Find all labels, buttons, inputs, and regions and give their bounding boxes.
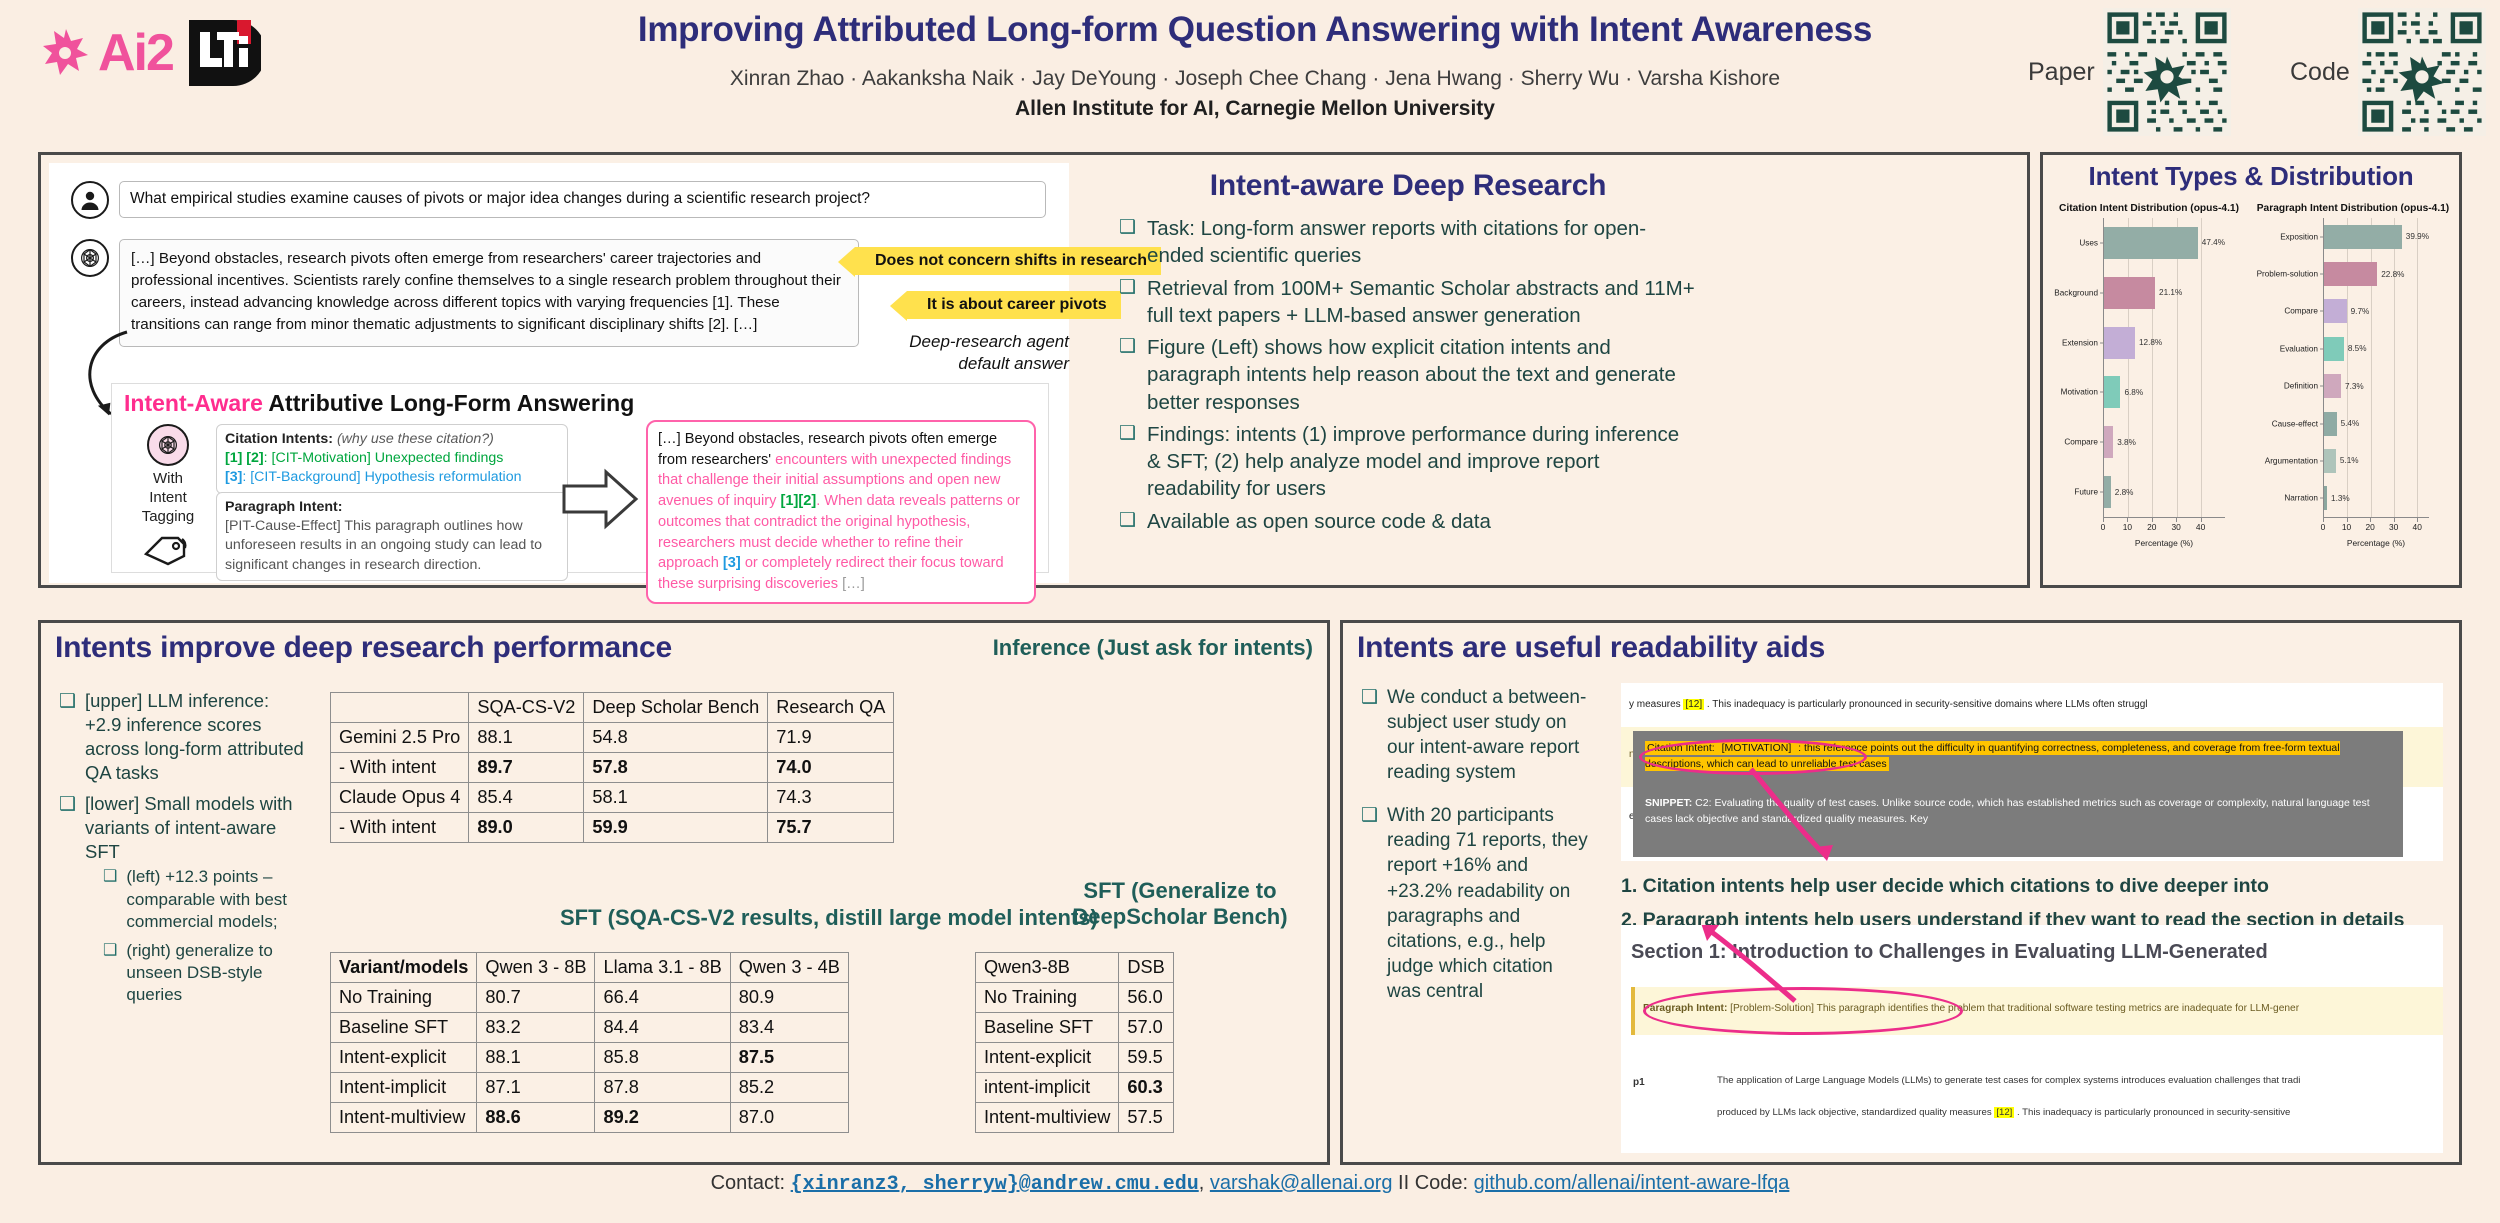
page-title: Improving Attributed Long-form Question … (560, 10, 1950, 49)
chart-ytick (2100, 242, 2104, 243)
default-answer-row: […] Beyond obstacles, research pivots of… (71, 239, 861, 347)
footer: Contact: {xinranz3, sherryw}@andrew.cmu.… (0, 1172, 2500, 1196)
table-header-cell: Deep Scholar Bench (584, 693, 768, 723)
report-screenshot-paragraph[interactable]: Section 1: Introduction to Challenges in… (1621, 925, 2443, 1153)
ai2-wordmark: Ai2 (98, 24, 173, 82)
table-row: Baseline SFT57.0 (976, 1013, 1174, 1043)
paragraph-intent-label: Paragraph Intent: (225, 499, 342, 515)
chart-xaxis-title: Percentage (%) (2103, 538, 2225, 548)
chart-xtick-label: 40 (2413, 522, 2422, 532)
chart-bar (2324, 337, 2344, 361)
sft-right-title: SFT (Generalize to DeepScholar Bench) (1060, 878, 1300, 930)
table-cell: Intent-implicit (331, 1073, 477, 1103)
chart-xtick-mark (2370, 518, 2371, 522)
deep-research-bullet-text: Findings: intents (1) improve performanc… (1147, 421, 1697, 503)
table-cell: 87.5 (730, 1043, 848, 1073)
checkbox-bullet-icon: ❑ (59, 689, 76, 785)
chart-ytick (2320, 423, 2324, 424)
ci-refs-1: [1] [2] (225, 450, 264, 466)
footer-sep-1: , (1199, 1172, 1210, 1194)
checkbox-bullet-icon: ❑ (1361, 803, 1378, 1004)
report-screenshot-citation[interactable]: y measures [12] . This inadequacy is par… (1621, 683, 2443, 861)
chart-ytick (2100, 392, 2104, 393)
chart-category-label: Background (2054, 288, 2098, 297)
table-cell: 88.1 (469, 723, 584, 753)
panel-intent-types: Intent Types & Distribution Citation Int… (2040, 152, 2462, 588)
chart-xtick-mark (2152, 518, 2153, 522)
deep-research-bullet: ❑Available as open source code & data (1119, 508, 1697, 535)
readability-note-text: With 20 participants reading 71 reports,… (1387, 803, 1589, 1004)
overview-figure: What empirical studies examine causes of… (49, 163, 1069, 583)
table-cell: Gemini 2.5 Pro (331, 723, 469, 753)
chart-bar-value: 5.1% (2340, 456, 2359, 465)
chart-bar (2104, 327, 2135, 359)
finding-1: 1. Citation intents help user decide whi… (1621, 875, 2269, 898)
sft-left-table: Variant/modelsQwen 3 - 8BLlama 3.1 - 8BQ… (330, 952, 849, 1133)
table-cell: 85.8 (595, 1043, 730, 1073)
table-cell: 71.9 (768, 723, 894, 753)
chart-ytick (2320, 460, 2324, 461)
sft-right-title-line1: SFT (Generalize to (1060, 878, 1300, 904)
ci-text-1: : [CIT-Motivation] Unexpected findings (264, 450, 504, 466)
table-row: Intent-implicit87.187.885.2 (331, 1073, 849, 1103)
chart-ytick (2320, 348, 2324, 349)
chart-bar-row: 7.3%Definition (2324, 374, 2429, 398)
checkbox-bullet-icon: ❑ (1119, 508, 1136, 535)
table-cell: 87.0 (730, 1103, 848, 1133)
table-row: - With intent89.059.975.7 (331, 813, 894, 843)
table-cell: Baseline SFT (331, 1013, 477, 1043)
table-cell: 83.2 (477, 1013, 595, 1043)
table-header-row: Variant/modelsQwen 3 - 8BLlama 3.1 - 8BQ… (331, 953, 849, 983)
table-row: No Training80.766.480.9 (331, 983, 849, 1013)
citation-intents-head: Citation Intents: (why use these citatio… (225, 430, 559, 449)
sft-right-table: Qwen3-8BDSBNo Training56.0Baseline SFT57… (975, 952, 1174, 1133)
paragraph-intent-text: [PIT-Cause-Effect] This paragraph outlin… (225, 517, 559, 575)
table-cell: 80.7 (477, 983, 595, 1013)
qr-repo-code[interactable] (2358, 8, 2486, 136)
table-row: Intent-multiview57.5 (976, 1103, 1174, 1133)
panel-readability: Intents are useful readability aids ❑We … (1340, 620, 2462, 1165)
chart-ytick (2320, 498, 2324, 499)
chart-xtick-label: 20 (2365, 522, 2374, 532)
deep-research-bullet: ❑Task: Long-form answer reports with cit… (1119, 215, 1697, 270)
table-header-row: SQA-CS-V2Deep Scholar BenchResearch QA (331, 693, 894, 723)
intent-aware-title-rest: Attributive Long-Form Answering (263, 390, 634, 416)
chart-bar (2324, 412, 2337, 436)
chart-bar-value: 21.1% (2159, 288, 2182, 297)
chart-bar-value: 39.9% (2406, 232, 2429, 241)
table-cell: 87.8 (595, 1073, 730, 1103)
table-header-cell: Llama 3.1 - 8B (595, 953, 730, 983)
chart-xtick-mark (2176, 518, 2177, 522)
table-cell: 74.0 (768, 753, 894, 783)
deep-research-caption: Deep-research agent default answer (769, 331, 1069, 375)
table-cell: - With intent (331, 753, 469, 783)
chart-bar-value: 3.8% (2117, 438, 2136, 447)
question-input[interactable]: What empirical studies examine causes of… (119, 181, 1046, 218)
lti-logo (187, 18, 261, 88)
chart-xtick-label: 0 (2101, 522, 2106, 532)
chart-bar-row: 9.7%Compare (2324, 299, 2429, 323)
table-header-cell: Research QA (768, 693, 894, 723)
deep-research-bullet: ❑Retrieval from 100M+ Semantic Scholar a… (1119, 275, 1697, 330)
table-cell: 88.1 (477, 1043, 595, 1073)
paragraph-intent-card: Paragraph Intent: [PIT-Cause-Effect] Thi… (216, 492, 568, 581)
table-row: No Training56.0 (976, 983, 1174, 1013)
performance-subnote: ❑(right) generalize to unseen DSB-style … (103, 940, 309, 1006)
chart-bar (2104, 376, 2120, 408)
repo-link[interactable]: github.com/allenai/intent-aware-lfqa (1474, 1172, 1790, 1194)
checkbox-bullet-icon: ❑ (1361, 685, 1378, 785)
pink-arrow-icon (1741, 765, 1921, 861)
contact-label: Contact: (711, 1172, 791, 1194)
table-cell: 58.1 (584, 783, 768, 813)
table-cell: intent-implicit (976, 1073, 1119, 1103)
chart-gridline (2177, 218, 2178, 517)
performance-notes: ❑[upper] LLM inference: +2.9 inference s… (59, 689, 309, 1020)
sft-right-table-wrap: Qwen3-8BDSBNo Training56.0Baseline SFT57… (975, 952, 1174, 1133)
chart-bar-row: 3.8%Compare (2104, 426, 2225, 458)
affiliation: Allen Institute for AI, Carnegie Mellon … (560, 97, 1950, 121)
table-cell: Intent-explicit (976, 1043, 1119, 1073)
table-cell: 74.3 (768, 783, 894, 813)
performance-subnote-list: ❑(left) +12.3 points – comparable with b… (103, 866, 309, 1006)
qr-code-label: Code (2290, 58, 2350, 87)
chart-xtick-label: 30 (2389, 522, 2398, 532)
deep-research-bullet-list: ❑Task: Long-form answer reports with cit… (1119, 215, 1697, 535)
table-row: Gemini 2.5 Pro88.154.871.9 (331, 723, 894, 753)
sft-left-title: SFT (SQA-CS-V2 results, distill large mo… (560, 905, 1098, 931)
performance-note-list: ❑[upper] LLM inference: +2.9 inference s… (59, 689, 309, 1013)
chart-ytick (2100, 492, 2104, 493)
chart-bar-value: 9.7% (2351, 307, 2370, 316)
table-cell: 83.4 (730, 1013, 848, 1043)
table-cell: 54.8 (584, 723, 768, 753)
chart-category-label: Motivation (2061, 388, 2098, 397)
chart-xtick-label: 10 (2342, 522, 2351, 532)
chart-xtick-mark (2347, 518, 2348, 522)
ci-text-2: : [CIT-Background] Hypothesis reformulat… (242, 469, 521, 485)
table-cell: 57.8 (584, 753, 768, 783)
ia-ans-ref-2: [3] (723, 555, 741, 571)
chart-bar (2104, 227, 2198, 259)
deep-research-bullet-text: Retrieval from 100M+ Semantic Scholar ab… (1147, 275, 1697, 330)
table-header-cell: Qwen 3 - 4B (730, 953, 848, 983)
email-link-allenai[interactable]: varshak@allenai.org (1210, 1172, 1393, 1194)
table-cell: 75.7 (768, 813, 894, 843)
qr-code-group[interactable]: Code (2290, 8, 2486, 136)
callout-not-shifts: Does not concern shifts in research (855, 247, 1161, 275)
ai2-logo: Ai2 (40, 25, 173, 81)
ia-ans-suffix: […] (842, 576, 865, 592)
citation-chart-title: Citation Intent Distribution (opus-4.1) (2047, 203, 2251, 214)
inference-subheading: Inference (Just ask for intents) (993, 635, 1313, 661)
user-avatar-icon (71, 181, 109, 219)
chart-xtick-label: 20 (2147, 522, 2156, 532)
chart-bar-value: 1.3% (2331, 494, 2350, 503)
email-link-cmu[interactable]: {xinranz3, sherryw}@andrew.cmu.edu (791, 1173, 1199, 1196)
chart-bar-row: 8.5%Evaluation (2324, 337, 2429, 361)
table-cell: Claude Opus 4 (331, 783, 469, 813)
performance-note-text: [upper] LLM inference: +2.9 inference sc… (85, 690, 304, 783)
table-header-cell: Variant/models (331, 953, 477, 983)
tag-icon (142, 528, 194, 568)
panel-overview: What empirical studies examine causes of… (38, 152, 2030, 588)
chart-xtick-label: 30 (2172, 522, 2181, 532)
caption-line-1: Deep-research agent (769, 331, 1069, 353)
callout-career-pivots: It is about career pivots (907, 291, 1121, 319)
chart-bar-row: 6.8%Motivation (2104, 376, 2225, 408)
chart-bar-row: 5.4%Cause-effect (2324, 412, 2429, 436)
deep-research-bullet-text: Figure (Left) shows how explicit citatio… (1147, 334, 1697, 416)
chart-xtick-label: 40 (2196, 522, 2205, 532)
chart-bar (2324, 262, 2377, 286)
default-answer-text: […] Beyond obstacles, research pivots of… (119, 239, 859, 347)
checkbox-bullet-icon: ❑ (1119, 421, 1136, 503)
deep-research-bullet-text: Available as open source code & data (1147, 508, 1491, 535)
citation-intents-label: Citation Intents: (225, 431, 333, 447)
chart-bar-value: 22.8% (2381, 270, 2404, 279)
chart-ytick (2100, 342, 2104, 343)
chart-category-label: Uses (2079, 238, 2098, 247)
table-row: Intent-multiview88.689.287.0 (331, 1103, 849, 1133)
citation-intent-line-2: [3]: [CIT-Background] Hypothesis reformu… (225, 468, 559, 487)
ci-refs-2: [3] (225, 469, 242, 485)
table-cell: No Training (976, 983, 1119, 1013)
chart-bar (2324, 225, 2402, 249)
table-cell: - With intent (331, 813, 469, 843)
readability-note: ❑We conduct a between-subject user study… (1361, 685, 1589, 785)
shot2-body-2b: . This inadequacy is particularly pronou… (2014, 1107, 2290, 1118)
chart-gridline (2201, 218, 2202, 517)
qr-code-icon (2103, 8, 2231, 136)
table-cell: Intent-multiview (331, 1103, 477, 1133)
performance-subnote: ❑(left) +12.3 points – comparable with b… (103, 866, 309, 932)
table-cell: 57.0 (1119, 1013, 1173, 1043)
table-header-cell (331, 693, 469, 723)
chart-ytick (2100, 442, 2104, 443)
table-header-cell: Qwen 3 - 8B (477, 953, 595, 983)
chart-category-label: Compare (2284, 307, 2318, 316)
performance-note: ❑[lower] Small models with variants of i… (59, 792, 309, 1013)
intent-types-heading: Intent Types & Distribution (2043, 161, 2459, 192)
chart-bar (2104, 277, 2155, 309)
charts-container: Citation Intent Distribution (opus-4.1) … (2043, 197, 2459, 585)
readability-heading: Intents are useful readability aids (1357, 631, 1825, 665)
chart-bar-value: 7.3% (2345, 382, 2364, 391)
chart-xtick-label: 10 (2123, 522, 2132, 532)
paragraph-chart-title: Paragraph Intent Distribution (opus-4.1) (2251, 203, 2455, 214)
performance-note: ❑[upper] LLM inference: +2.9 inference s… (59, 689, 309, 785)
tooltip-snippet-label: SNIPPET: (1645, 797, 1692, 809)
chart-ytick (2320, 386, 2324, 387)
sft-left-table-wrap: Variant/modelsQwen 3 - 8BLlama 3.1 - 8BQ… (330, 952, 849, 1133)
table-cell: 85.4 (469, 783, 584, 813)
readability-notes: ❑We conduct a between-subject user study… (1361, 685, 1589, 1022)
inference-table: SQA-CS-V2Deep Scholar BenchResearch QAGe… (330, 692, 894, 843)
agent-hex-icon (147, 424, 189, 466)
chart-xtick-mark (2201, 518, 2202, 522)
caption-line-2: default answer (769, 353, 1069, 375)
readability-note: ❑With 20 participants reading 71 reports… (1361, 803, 1589, 1004)
table-row: - With intent89.757.874.0 (331, 753, 894, 783)
paragraph-intent-chart: Paragraph Intent Distribution (opus-4.1)… (2251, 203, 2455, 569)
readability-note-list: ❑We conduct a between-subject user study… (1361, 685, 1589, 1004)
chart-ytick (2100, 292, 2104, 293)
table-cell: 85.2 (730, 1073, 848, 1103)
chart-xtick-label: 0 (2321, 522, 2326, 532)
agent-icon (71, 239, 109, 277)
performance-subnote-text: (right) generalize to unseen DSB-style q… (126, 940, 309, 1006)
intent-tagging-column: With Intent Tagging (132, 424, 204, 573)
chart-category-label: Future (2074, 488, 2098, 497)
deep-research-heading: Intent-aware Deep Research (1119, 169, 1697, 203)
table-cell: 57.5 (1119, 1103, 1173, 1133)
user-question-row: What empirical studies examine causes of… (71, 181, 1046, 219)
table-cell: 89.7 (469, 753, 584, 783)
paragraph-chart-plot: 39.9%Exposition22.8%Problem-solution9.7%… (2323, 218, 2429, 518)
qr-code-icon (2358, 8, 2486, 136)
ai2-flower-icon (40, 25, 92, 81)
table-cell: 80.9 (730, 983, 848, 1013)
table-cell: 59.9 (584, 813, 768, 843)
chart-category-label: Cause-effect (2272, 419, 2318, 428)
chart-ytick (2320, 236, 2324, 237)
chart-category-label: Compare (2064, 438, 2098, 447)
chart-bar (2324, 449, 2336, 473)
chart-bar (2324, 486, 2327, 510)
chart-bar (2324, 299, 2347, 323)
author-list: Xinran Zhao · Aakanksha Naik · Jay DeYou… (560, 65, 1950, 93)
chart-xtick-mark (2323, 518, 2324, 522)
table-cell: 89.2 (595, 1103, 730, 1133)
chart-category-label: Extension (2062, 338, 2098, 347)
chart-gridline (2128, 218, 2129, 517)
shot2-body-line-2: produced by LLMs lack objective, standar… (1717, 1107, 2290, 1118)
chart-bar-row: 22.8%Problem-solution (2324, 262, 2429, 286)
qr-paper-group[interactable]: Paper (2028, 8, 2231, 136)
chart-bar (2104, 476, 2111, 508)
ia-ans-ref-1: [1][2] (781, 493, 817, 509)
chart-bar-value: 47.4% (2202, 238, 2225, 247)
chart-bar-row: 21.1%Background (2104, 277, 2225, 309)
table-row: intent-implicit60.3 (976, 1073, 1174, 1103)
chart-xaxis-title: Percentage (%) (2323, 538, 2429, 548)
shot2-body-line-1: The application of Large Language Models… (1717, 1075, 2300, 1086)
table-row: Claude Opus 485.458.174.3 (331, 783, 894, 813)
performance-subnote-text: (left) +12.3 points – comparable with be… (126, 866, 309, 932)
deep-research-column: Intent-aware Deep Research ❑Task: Long-f… (1119, 169, 1697, 540)
chart-category-label: Problem-solution (2257, 270, 2318, 279)
table-cell: Intent-explicit (331, 1043, 477, 1073)
chart-xtick-mark (2417, 518, 2418, 522)
chart-category-label: Argumentation (2265, 456, 2318, 465)
intent-aware-title: Intent-Aware Attributive Long-Form Answe… (124, 390, 634, 417)
readability-note-text: We conduct a between-subject user study … (1387, 685, 1589, 785)
checkbox-bullet-icon: ❑ (1119, 334, 1136, 416)
table-row: Intent-explicit88.185.887.5 (331, 1043, 849, 1073)
table-row: Baseline SFT83.284.483.4 (331, 1013, 849, 1043)
block-arrow-icon (562, 468, 640, 530)
citation-intent-chart: Citation Intent Distribution (opus-4.1) … (2047, 203, 2251, 569)
performance-note-text: [lower] Small models with variants of in… (85, 793, 292, 862)
chart-xtick-mark (2103, 518, 2104, 522)
qr-paper-code[interactable] (2103, 8, 2231, 136)
inference-table-wrap: SQA-CS-V2Deep Scholar BenchResearch QAGe… (330, 692, 894, 843)
chart-bar-row: 1.3%Narration (2324, 486, 2429, 510)
citation-chart-plot: 47.4%Uses21.1%Background12.8%Extension6.… (2103, 218, 2225, 518)
checkbox-bullet-icon: ❑ (103, 866, 117, 932)
table-cell: No Training (331, 983, 477, 1013)
intent-aware-title-accent: Intent-Aware (124, 390, 263, 416)
table-cell: 59.5 (1119, 1043, 1173, 1073)
checkbox-bullet-icon: ❑ (1119, 275, 1136, 330)
deep-research-bullet: ❑Findings: intents (1) improve performan… (1119, 421, 1697, 503)
pink-arrow-up-icon (1679, 925, 1819, 1009)
chart-bar-value: 2.8% (2115, 488, 2134, 497)
citation-intents-card: Citation Intents: (why use these citatio… (216, 424, 568, 494)
citation-intents-hint: (why use these citation?) (337, 431, 494, 447)
chart-bar-row: 5.1%Argumentation (2324, 449, 2429, 473)
checkbox-bullet-icon: ❑ (1119, 215, 1136, 270)
chart-bar-value: 8.5% (2348, 344, 2367, 353)
shot2-body-ref: [12] (1994, 1107, 2014, 1118)
chart-category-label: Evaluation (2280, 344, 2318, 353)
chart-ytick (2320, 274, 2324, 275)
intent-aware-answer-card: […] Beyond obstacles, research pivots of… (646, 420, 1036, 604)
deep-research-bullet-text: Task: Long-form answer reports with cita… (1147, 215, 1697, 270)
chart-category-label: Definition (2284, 382, 2318, 391)
table-cell: 60.3 (1119, 1073, 1173, 1103)
with-intent-tagging-label: With Intent Tagging (132, 470, 204, 526)
shot1-top-line: y measures [12] . This inadequacy is par… (1629, 699, 2148, 710)
chart-bar-value: 12.8% (2139, 338, 2162, 347)
shot1-top-ref: [12] (1683, 699, 1704, 710)
table-cell: 56.0 (1119, 983, 1173, 1013)
table-header-row: Qwen3-8BDSB (976, 953, 1174, 983)
table-cell: Baseline SFT (976, 1013, 1119, 1043)
table-header-cell: Qwen3-8B (976, 953, 1119, 983)
chart-category-label: Narration (2284, 494, 2318, 503)
shot1-top-b: . This inadequacy is particularly pronou… (1704, 699, 2147, 710)
table-cell: 88.6 (477, 1103, 595, 1133)
chart-bar-value: 6.8% (2124, 388, 2143, 397)
poster-header: Ai2 Improving Attributed Long-form Quest… (0, 0, 2500, 148)
chart-bar-row: 12.8%Extension (2104, 327, 2225, 359)
title-block: Improving Attributed Long-form Question … (560, 10, 1950, 121)
chart-xtick-mark (2394, 518, 2395, 522)
table-header-cell: DSB (1119, 953, 1173, 983)
table-cell: 84.4 (595, 1013, 730, 1043)
chart-bar-row: 39.9%Exposition (2324, 225, 2429, 249)
footer-sep-2: II Code: (1392, 1172, 1473, 1194)
shot2-body-2a: produced by LLMs lack objective, standar… (1717, 1107, 1994, 1118)
chart-bar (2104, 426, 2113, 458)
checkbox-bullet-icon: ❑ (59, 792, 76, 1013)
citation-intent-line-1: [1] [2]: [CIT-Motivation] Unexpected fin… (225, 449, 559, 468)
logo-group: Ai2 (40, 18, 261, 88)
performance-heading: Intents improve deep research performanc… (55, 631, 672, 665)
checkbox-bullet-icon: ❑ (103, 940, 117, 1006)
shot1-top-a: y measures (1629, 699, 1683, 710)
sft-right-title-line2: DeepScholar Bench) (1060, 904, 1300, 930)
table-cell: Intent-multiview (976, 1103, 1119, 1133)
intent-aware-subpanel: Intent-Aware Attributive Long-Form Answe… (111, 383, 1049, 573)
qr-paper-label: Paper (2028, 58, 2095, 87)
chart-bar-value: 5.4% (2341, 419, 2360, 428)
table-cell: 66.4 (595, 983, 730, 1013)
